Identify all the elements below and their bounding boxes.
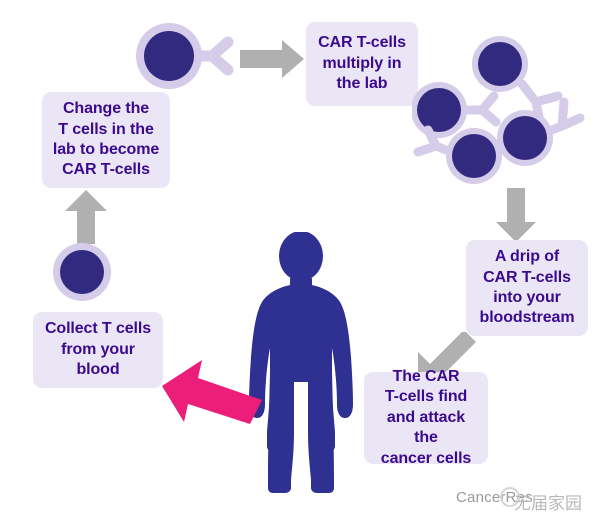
step-box-multiply: CAR T-cells multiply in the lab <box>306 22 418 106</box>
step-box-attack: The CAR T-cells find and attack the canc… <box>364 372 488 464</box>
car-t-cell-single-icon <box>130 16 240 100</box>
step-box-change: Change the T cells in the lab to become … <box>42 92 170 188</box>
step-box-collect: Collect T cells from your blood <box>33 312 163 388</box>
car-t-cell-therapy-diagram: CAR T-cells multiply in the lab Change t… <box>0 0 600 524</box>
step-box-drip: A drip of CAR T-cells into your bloodstr… <box>466 240 588 336</box>
arrow-multiply-to-drip <box>495 186 539 244</box>
watermark-chinese: 无届家园 <box>514 489 582 514</box>
arrow-change-to-multiply <box>238 38 308 80</box>
arrow-collect-to-change <box>62 188 110 246</box>
plain-t-cell-icon <box>50 240 114 304</box>
car-t-cell-cluster-icon <box>412 26 592 186</box>
arrow-attack-to-collect <box>158 358 268 428</box>
